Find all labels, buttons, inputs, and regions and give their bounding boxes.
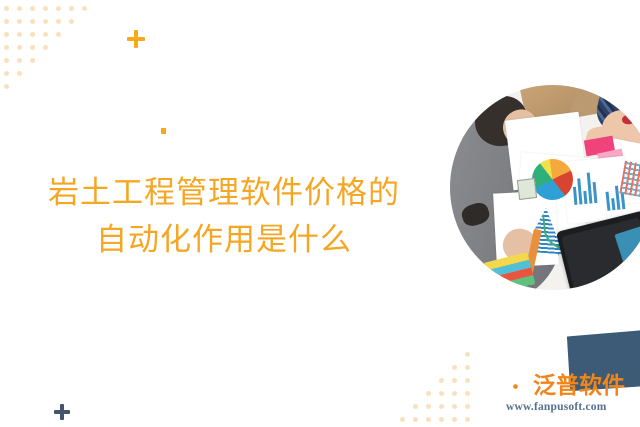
dot bbox=[69, 19, 74, 24]
dot bbox=[17, 58, 22, 63]
page-title-line-2: 自动化作用是什么 bbox=[0, 216, 448, 263]
plus-mark-orange-icon bbox=[127, 30, 145, 48]
dot bbox=[439, 404, 444, 409]
dot bbox=[465, 378, 470, 383]
dot bbox=[82, 6, 87, 11]
page-title-line-1: 岩土工程管理软件价格的 bbox=[0, 169, 448, 216]
hero-photo bbox=[450, 85, 640, 290]
plus-mark-navy-icon bbox=[54, 404, 70, 420]
dot bbox=[43, 19, 48, 24]
dot bbox=[452, 404, 457, 409]
dot bbox=[465, 391, 470, 396]
dot-grid-bottom-right-icon bbox=[400, 352, 475, 422]
brand-logo-url: www.fanpusoft.com bbox=[506, 400, 635, 414]
dot bbox=[4, 84, 9, 89]
photo-bar-chart-1 bbox=[572, 170, 598, 205]
dot bbox=[17, 45, 22, 50]
dot-grid-top-left-icon bbox=[4, 6, 94, 96]
dot bbox=[426, 417, 431, 422]
dot bbox=[69, 6, 74, 11]
dot bbox=[43, 32, 48, 37]
dot bbox=[413, 404, 418, 409]
dot bbox=[30, 45, 35, 50]
dot bbox=[43, 45, 48, 50]
dot bbox=[426, 404, 431, 409]
dot bbox=[56, 32, 61, 37]
dot bbox=[17, 71, 22, 76]
dot bbox=[56, 6, 61, 11]
dot bbox=[452, 365, 457, 370]
dot bbox=[17, 32, 22, 37]
dot bbox=[465, 365, 470, 370]
photo-thumbnail-square bbox=[516, 178, 537, 201]
dot bbox=[4, 71, 9, 76]
dot bbox=[439, 417, 444, 422]
dot bbox=[465, 404, 470, 409]
dot bbox=[30, 19, 35, 24]
dot bbox=[4, 6, 9, 11]
dot bbox=[17, 19, 22, 24]
brand-logo-row: 泛普软件 bbox=[505, 372, 635, 399]
dot bbox=[465, 352, 470, 357]
promo-banner: 岩土工程管理软件价格的 自动化作用是什么 bbox=[0, 0, 640, 427]
page-title: 岩土工程管理软件价格的 自动化作用是什么 bbox=[0, 169, 448, 263]
dot bbox=[413, 417, 418, 422]
dot bbox=[452, 417, 457, 422]
dot bbox=[56, 19, 61, 24]
dot bbox=[30, 32, 35, 37]
dot bbox=[4, 58, 9, 63]
dot bbox=[426, 391, 431, 396]
dot bbox=[4, 19, 9, 24]
dot bbox=[30, 58, 35, 63]
dot bbox=[439, 378, 444, 383]
dot bbox=[43, 6, 48, 11]
dot bbox=[452, 378, 457, 383]
dot bbox=[30, 6, 35, 11]
dot bbox=[400, 417, 405, 422]
dot bbox=[452, 391, 457, 396]
brand-logo-name: 泛普软件 bbox=[533, 373, 625, 398]
dot bbox=[465, 417, 470, 422]
fanpu-logo-mark-icon bbox=[505, 373, 530, 398]
accent-square-icon bbox=[161, 128, 166, 134]
brand-logo: 泛普软件 www.fanpusoft.com bbox=[505, 372, 635, 418]
dot bbox=[17, 6, 22, 11]
dot bbox=[439, 391, 444, 396]
dot bbox=[4, 32, 9, 37]
dot bbox=[4, 45, 9, 50]
